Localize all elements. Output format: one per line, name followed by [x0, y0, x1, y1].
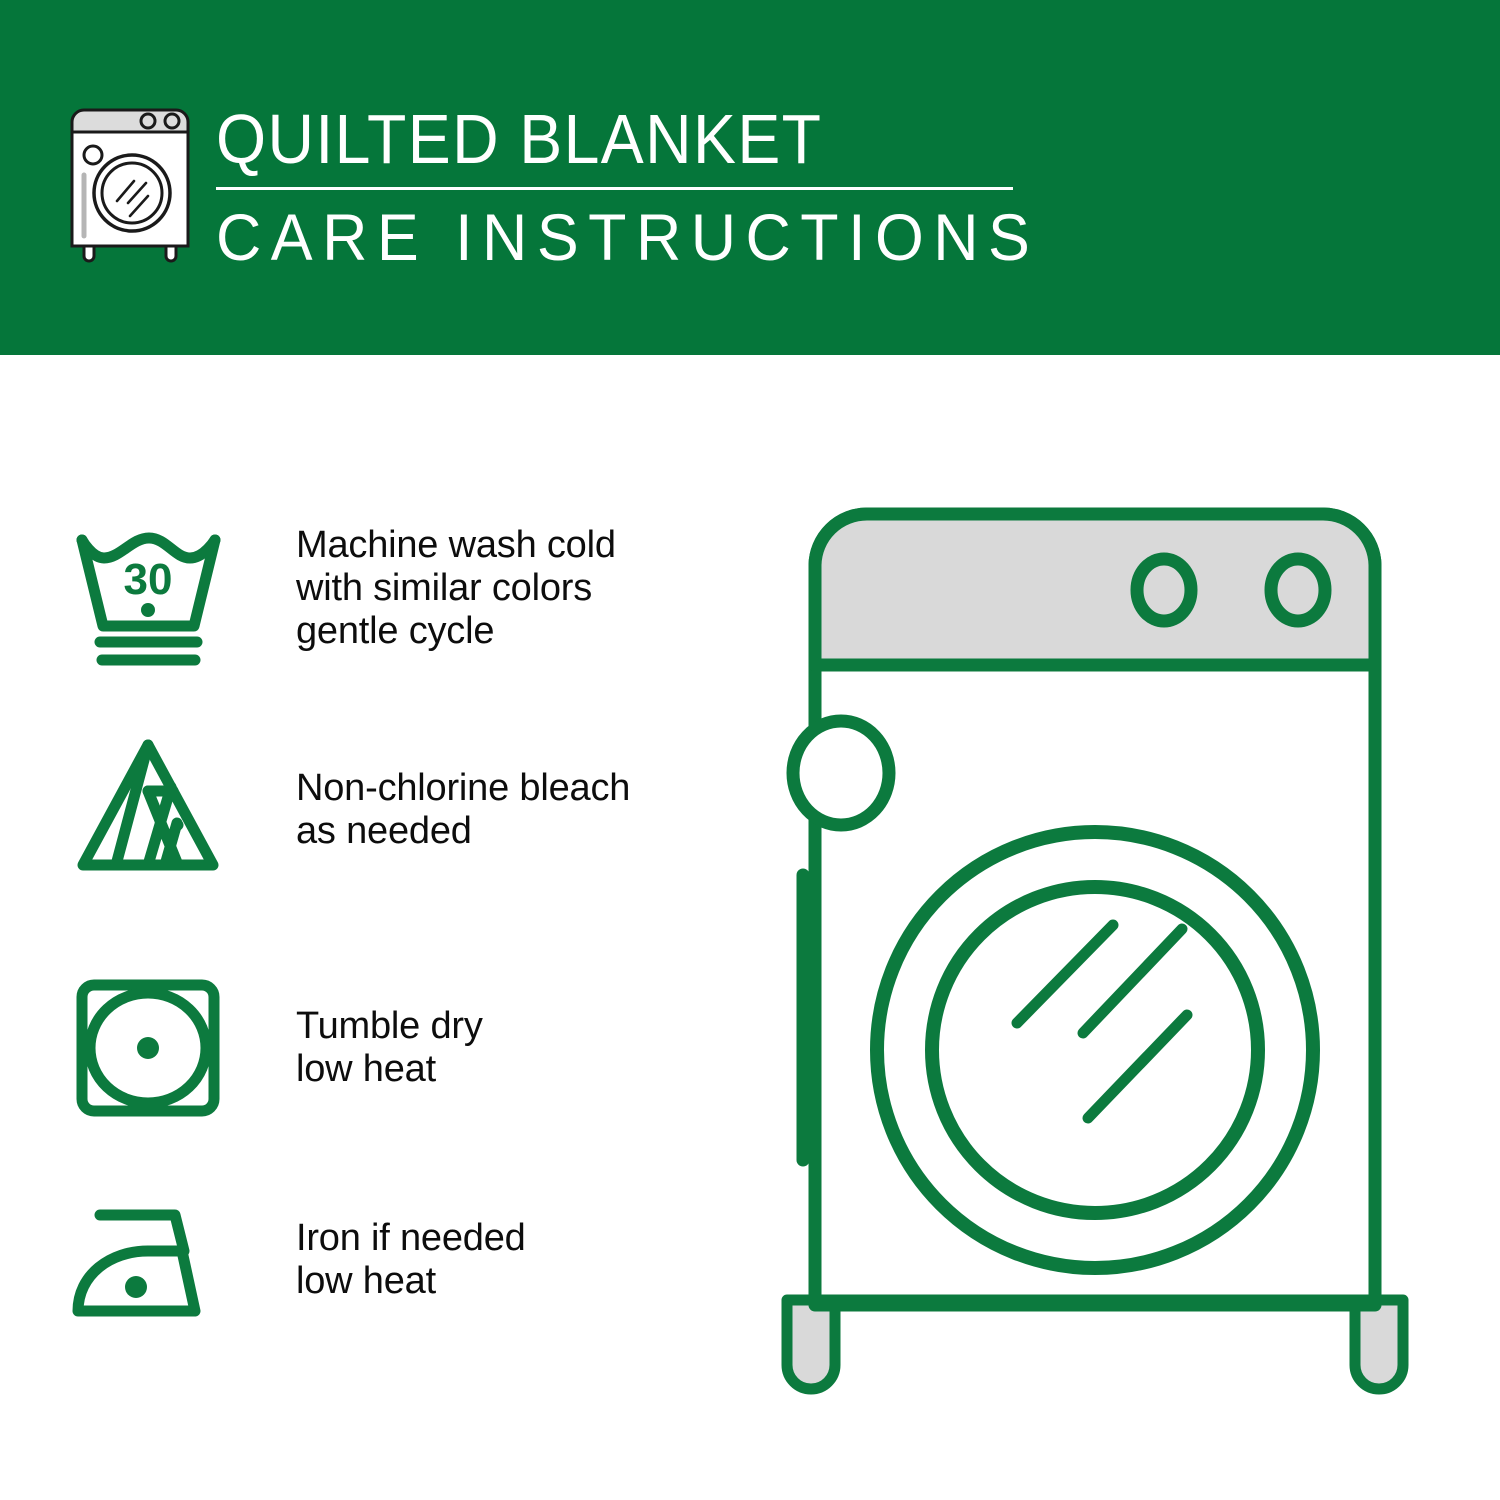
care-row-tumble-dry: Tumble dry low heat: [70, 973, 710, 1123]
wash-temperature-label: 30: [124, 555, 173, 604]
care-instructions-page: QUILTED BLANKET CARE INSTRUCTIONS: [0, 0, 1500, 1500]
care-row-bleach: Non-chlorine bleach as needed: [70, 733, 710, 883]
title-divider: [216, 187, 1013, 190]
leg-left: [787, 1300, 835, 1389]
wash-tub-30-gentle-icon: 30: [70, 522, 238, 672]
iron-low-heat-icon: [70, 1193, 238, 1343]
page-title: QUILTED BLANKET: [216, 100, 952, 178]
care-text-bleach: Non-chlorine bleach as needed: [238, 733, 630, 853]
washing-machine-logo-icon: [64, 104, 196, 266]
care-text-tumble-dry: Tumble dry low heat: [238, 973, 483, 1091]
front-load-washing-machine-illustration: [745, 505, 1445, 1415]
page-subtitle: CARE INSTRUCTIONS: [216, 201, 976, 273]
bleach-triangle-non-chlorine-icon: [70, 733, 238, 883]
header-title-block: QUILTED BLANKET CARE INSTRUCTIONS: [216, 100, 1016, 273]
tumble-dry-low-heat-icon: [70, 973, 238, 1123]
care-row-machine-wash: 30 Machine wash cold with similar colors…: [70, 522, 710, 672]
care-text-iron: Iron if needed low heat: [238, 1193, 526, 1303]
care-instruction-list: 30 Machine wash cold with similar colors…: [0, 355, 720, 1500]
leg-right: [1355, 1300, 1403, 1389]
header-band: QUILTED BLANKET CARE INSTRUCTIONS: [0, 0, 1500, 355]
care-text-machine-wash: Machine wash cold with similar colors ge…: [238, 522, 616, 653]
care-row-iron: Iron if needed low heat: [70, 1193, 710, 1343]
